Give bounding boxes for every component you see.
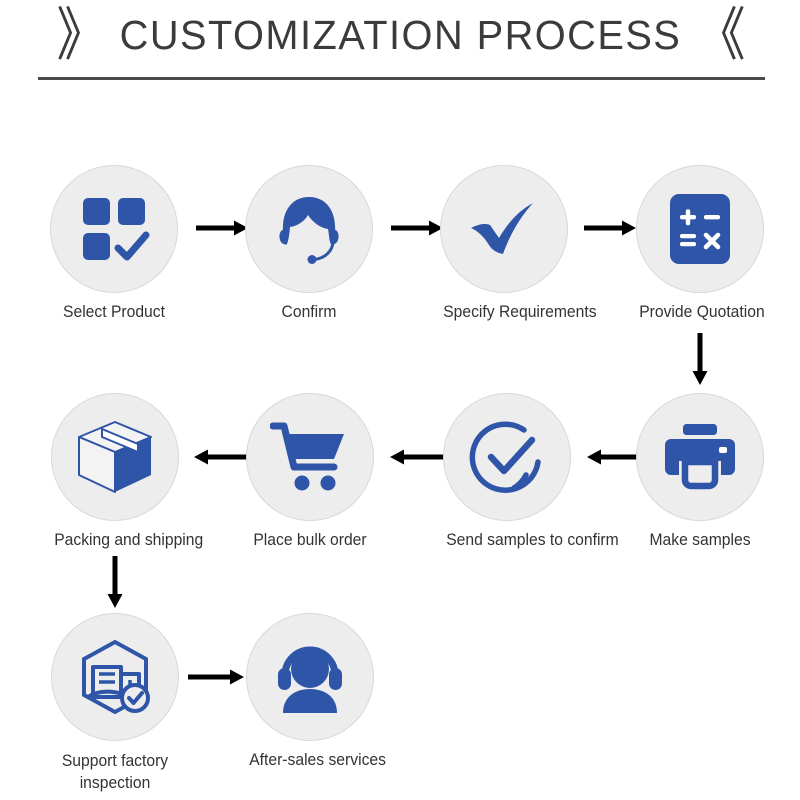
step-node-confirm[interactable]: Confirm bbox=[245, 165, 373, 322]
calculator-icon bbox=[668, 192, 732, 266]
step-icon-circle bbox=[51, 613, 179, 741]
step-label: Select Product bbox=[53, 302, 175, 322]
step-icon-circle bbox=[245, 165, 373, 293]
page-title: CUSTOMIZATION PROCESS bbox=[119, 8, 681, 62]
step-label: Place bulk order bbox=[249, 530, 371, 550]
step-icon-circle bbox=[50, 165, 178, 293]
step-icon-circle bbox=[246, 393, 374, 521]
arrow-right-2 bbox=[391, 218, 443, 238]
chevron-double-left-icon: 《 bbox=[695, 6, 743, 64]
step-icon-circle bbox=[246, 613, 374, 741]
chevron-double-right-icon: 》 bbox=[57, 6, 105, 64]
checkmark-icon bbox=[465, 190, 543, 268]
step-label: Send samples to confirm bbox=[446, 530, 568, 550]
step-icon-circle bbox=[636, 393, 764, 521]
factory-inspection-icon bbox=[75, 637, 155, 717]
step-node-support-factory-inspection[interactable]: Support factory inspection bbox=[51, 613, 179, 794]
arrow-right-4 bbox=[188, 667, 244, 687]
step-node-place-bulk-order[interactable]: Place bulk order bbox=[246, 393, 374, 550]
step-label: Specify Requirements bbox=[443, 302, 565, 322]
headset-user-icon bbox=[271, 641, 349, 713]
headset-agent-icon bbox=[269, 189, 349, 269]
step-label: Packing and shipping bbox=[54, 530, 176, 550]
title-row: 》 CUSTOMIZATION PROCESS 《 bbox=[0, 8, 800, 62]
arrow-down-right bbox=[690, 333, 710, 385]
shopping-cart-icon bbox=[270, 421, 350, 493]
step-label: Confirm bbox=[248, 302, 370, 322]
arrow-right-3 bbox=[584, 218, 636, 238]
circle-check-icon bbox=[468, 418, 546, 496]
step-label: After-sales services bbox=[249, 750, 371, 770]
title-divider bbox=[38, 77, 765, 80]
arrow-left-3 bbox=[585, 447, 643, 467]
step-node-provide-quotation[interactable]: Provide Quotation bbox=[636, 165, 764, 322]
package-box-icon bbox=[76, 419, 154, 495]
customization-process-infographic: 》 CUSTOMIZATION PROCESS 《 Select Product bbox=[0, 0, 800, 800]
step-label: Support factory inspection bbox=[54, 750, 176, 794]
step-node-after-sales-services[interactable]: After-sales services bbox=[246, 613, 374, 770]
arrow-right-1 bbox=[196, 218, 248, 238]
step-node-specify-requirements[interactable]: Specify Requirements bbox=[440, 165, 568, 322]
arrow-left-1 bbox=[192, 447, 250, 467]
arrow-down-left bbox=[105, 556, 125, 608]
step-label: Provide Quotation bbox=[639, 302, 761, 322]
step-node-select-product[interactable]: Select Product bbox=[50, 165, 178, 322]
step-icon-circle bbox=[443, 393, 571, 521]
step-icon-circle bbox=[440, 165, 568, 293]
step-node-packing-and-shipping[interactable]: Packing and shipping bbox=[51, 393, 179, 550]
step-node-send-samples-to-confirm[interactable]: Send samples to confirm bbox=[443, 393, 571, 550]
step-label: Make samples bbox=[639, 530, 761, 550]
arrow-left-2 bbox=[388, 447, 446, 467]
step-node-make-samples[interactable]: Make samples bbox=[636, 393, 764, 550]
step-icon-circle bbox=[51, 393, 179, 521]
grid-check-icon bbox=[77, 192, 151, 266]
printer-icon bbox=[663, 422, 737, 492]
header: 》 CUSTOMIZATION PROCESS 《 bbox=[0, 0, 800, 90]
step-icon-circle bbox=[636, 165, 764, 293]
